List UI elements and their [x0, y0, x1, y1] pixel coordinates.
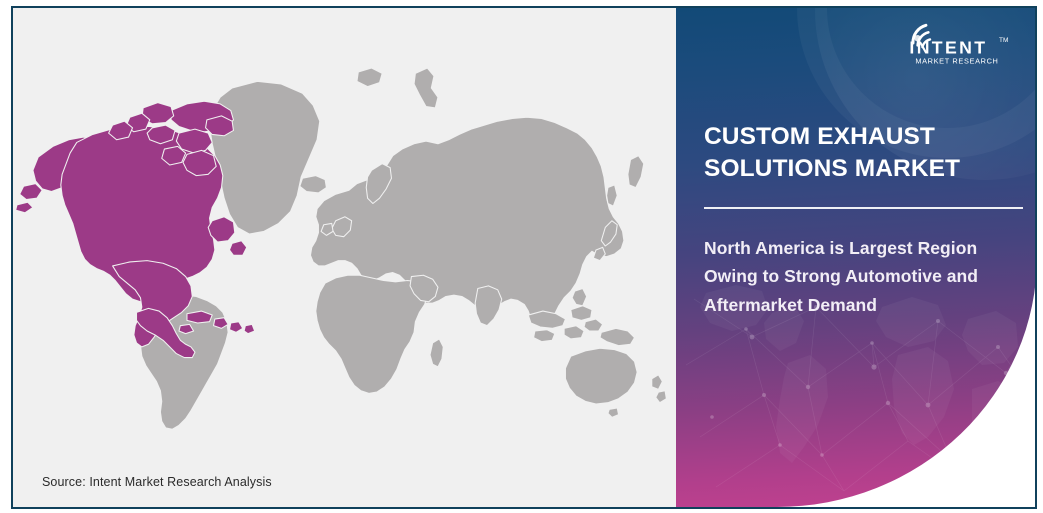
logo-tagline: MARKET RESEARCH [915, 57, 998, 66]
panel-subtitle: North America is Largest Region Owing to… [704, 234, 1024, 319]
panel-content: INTENT TM MARKET RESEARCH CUSTOM EXHAUST… [704, 8, 1026, 507]
infographic-container: Source: Intent Market Research Analysis [0, 0, 1043, 513]
logo-wordmark: INTENT [909, 38, 987, 58]
world-map-panel: Source: Intent Market Research Analysis [13, 8, 677, 507]
world-map-svg [13, 46, 677, 446]
page-title: CUSTOM EXHAUST SOLUTIONS MARKET [704, 121, 1026, 186]
title-panel: INTENT TM MARKET RESEARCH CUSTOM EXHAUST… [676, 8, 1037, 507]
source-label: Source: Intent Market Research Analysis [42, 475, 272, 489]
map-landmasses [16, 68, 667, 429]
title-divider [704, 207, 1023, 209]
logo-trademark: TM [999, 37, 1008, 44]
intent-market-research-logo[interactable]: INTENT TM MARKET RESEARCH [900, 17, 1012, 69]
